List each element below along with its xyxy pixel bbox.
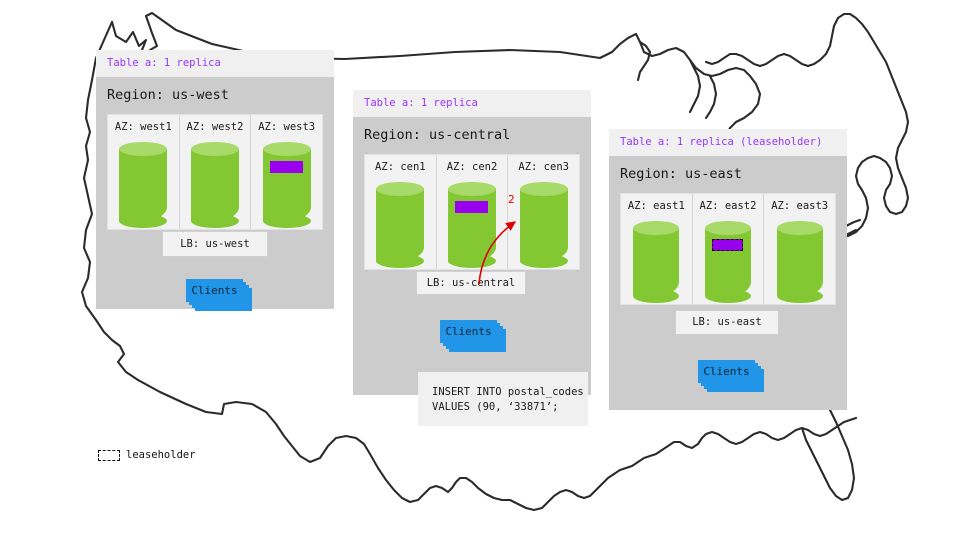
az-cell-west3[interactable]: AZ: west3 (251, 115, 322, 229)
clients-label-us-east[interactable]: Clients (698, 360, 755, 383)
az-label-west3: AZ: west3 (258, 122, 315, 133)
panel-header-us-west: Table a: 1 replica (96, 50, 334, 77)
cylinder-body (119, 149, 167, 221)
az-label-cen1: AZ: cen1 (375, 162, 426, 173)
region-title-us-central: Region: us-central (353, 117, 591, 155)
cylinder-top (191, 142, 239, 156)
cylinder-top (119, 142, 167, 156)
node-west2[interactable] (191, 142, 239, 228)
cylinder-top (777, 221, 823, 235)
az-strip-us-west: AZ: west1 AZ: west2 (107, 114, 323, 230)
diagram-canvas: Table a: 1 replica Region: us-west AZ: w… (0, 0, 960, 540)
az-label-cen2: AZ: cen2 (447, 162, 498, 173)
replica-block-west3 (270, 161, 303, 173)
cylinder-body (376, 189, 424, 261)
cylinder-body (633, 228, 679, 296)
az-cell-east1[interactable]: AZ: east1 (621, 194, 693, 304)
az-label-west1: AZ: west1 (115, 122, 172, 133)
load-balancer-us-west[interactable]: LB: us-west (162, 231, 268, 257)
clients-us-west[interactable]: Clients (186, 279, 252, 311)
az-label-west2: AZ: west2 (187, 122, 244, 133)
panel-body-us-west: Region: us-west AZ: west1 AZ: west2 (96, 77, 334, 309)
az-label-east2: AZ: east2 (700, 201, 757, 212)
cylinder-top (705, 221, 751, 235)
dashed-rectangle-icon (98, 450, 120, 461)
clients-us-east[interactable]: Clients (698, 360, 764, 392)
cylinder-top (263, 142, 311, 156)
legend-label: leaseholder (126, 450, 196, 461)
az-cell-east3[interactable]: AZ: east3 (764, 194, 835, 304)
az-cell-west1[interactable]: AZ: west1 (108, 115, 180, 229)
cylinder-top (633, 221, 679, 235)
region-panel-us-west: Table a: 1 replica Region: us-west AZ: w… (96, 50, 334, 309)
cylinder-body (777, 228, 823, 296)
panel-header-us-central: Table a: 1 replica (353, 90, 591, 117)
cylinder-body (191, 149, 239, 221)
node-cen1[interactable] (376, 182, 424, 268)
az-strip-us-east: AZ: east1 AZ: east2 (620, 193, 836, 305)
node-east3[interactable] (777, 221, 823, 303)
clients-label-us-west[interactable]: Clients (186, 279, 243, 302)
region-title-us-east: Region: us-east (609, 156, 847, 194)
clients-us-central[interactable]: Clients (440, 320, 506, 352)
clients-label-us-central[interactable]: Clients (440, 320, 497, 343)
node-west1[interactable] (119, 142, 167, 228)
node-east2[interactable] (705, 221, 751, 303)
sql-statement-box: INSERT INTO postal_codes VALUES (90, ‘33… (418, 372, 588, 426)
node-west3[interactable] (263, 142, 311, 228)
legend: leaseholder (98, 450, 196, 461)
az-label-east3: AZ: east3 (771, 201, 828, 212)
az-cell-east2[interactable]: AZ: east2 (693, 194, 765, 304)
load-balancer-us-east[interactable]: LB: us-east (675, 310, 779, 335)
panel-header-us-east: Table a: 1 replica (leaseholder) (609, 129, 847, 156)
az-label-east1: AZ: east1 (628, 201, 685, 212)
arrow-step-label-2: 2 (508, 194, 515, 205)
replication-arrow-icon (440, 180, 560, 290)
node-east1[interactable] (633, 221, 679, 303)
leaseholder-replica-block-east2 (712, 239, 743, 251)
az-label-cen3: AZ: cen3 (518, 162, 569, 173)
az-cell-cen1[interactable]: AZ: cen1 (365, 155, 437, 269)
cylinder-body (263, 149, 311, 221)
region-title-us-west: Region: us-west (96, 77, 334, 115)
az-cell-west2[interactable]: AZ: west2 (180, 115, 252, 229)
cylinder-top (376, 182, 424, 196)
